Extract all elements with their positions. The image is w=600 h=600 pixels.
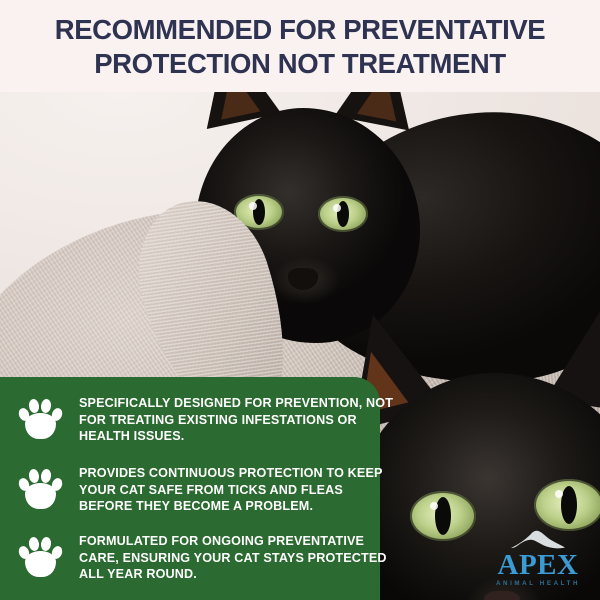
- paw-print-icon: [18, 467, 63, 509]
- list-item-text: PROVIDES CONTINUOUS PROTECTION TO KEEP Y…: [79, 465, 399, 515]
- eye-glint: [333, 204, 341, 212]
- cat-back-eye-right: [318, 196, 368, 232]
- poster-canvas: SPECIFICALLY DESIGNED FOR PREVENTION, NO…: [0, 0, 600, 600]
- brand-logo: APEX ANIMAL HEALTH: [488, 528, 588, 590]
- logo-wordmark: APEX: [488, 551, 588, 579]
- page-title: RECOMMENDED FOR PREVENTATIVE PROTECTION …: [0, 0, 600, 92]
- mountain-peak-icon: [509, 528, 567, 550]
- paw-toe: [28, 468, 40, 483]
- list-item: PROVIDES CONTINUOUS PROTECTION TO KEEP Y…: [18, 465, 399, 515]
- paw-toe: [28, 536, 40, 551]
- paw-toe: [40, 536, 52, 551]
- eye-glint: [249, 202, 257, 210]
- title-line-2: PROTECTION NOT TREATMENT: [94, 47, 506, 81]
- list-item-text: FORMULATED FOR ONGOING PREVENTATIVE CARE…: [79, 533, 399, 583]
- paw-print-icon: [18, 535, 63, 577]
- logo-subtitle: ANIMAL HEALTH: [488, 580, 588, 587]
- list-item-text: SPECIFICALLY DESIGNED FOR PREVENTION, NO…: [79, 395, 399, 445]
- paw-toe: [28, 398, 40, 413]
- paw-toe: [40, 468, 52, 483]
- list-item: FORMULATED FOR ONGOING PREVENTATIVE CARE…: [18, 533, 399, 583]
- list-item: SPECIFICALLY DESIGNED FOR PREVENTION, NO…: [18, 395, 399, 445]
- paw-toe: [40, 398, 52, 413]
- title-line-1: RECOMMENDED FOR PREVENTATIVE: [55, 13, 545, 47]
- paw-print-icon: [18, 397, 63, 439]
